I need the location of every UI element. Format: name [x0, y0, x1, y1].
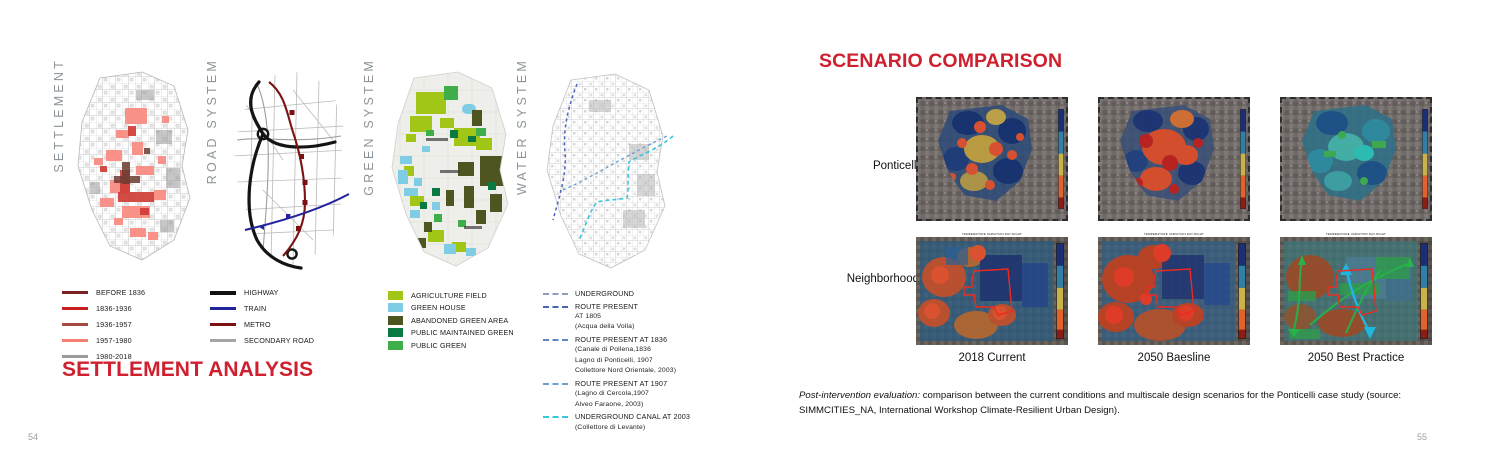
- legend-label: SECONDARY ROAD: [244, 336, 314, 345]
- left-page: SETTLEMENT: [0, 0, 753, 476]
- thumb-image: [1280, 97, 1432, 221]
- legend-settlement: BEFORE 1836 1836-1936 1936-1957 1957-198…: [62, 288, 145, 368]
- legend-label-sub: (Collettore di Levante): [575, 424, 645, 431]
- scenario-comparison-title: SCENARIO COMPARISON: [819, 50, 1062, 73]
- legend-item: ROUTE PRESENT AT 1836 (Canale di Pollena…: [543, 335, 690, 376]
- thumb-neighborhood-2050-best-practice[interactable]: TEMPERATURE VARIATION DAY-NIGHT: [1280, 230, 1432, 345]
- legend-label: ROUTE PRESENT AT 1907 (Lagno di Cercola,…: [575, 379, 667, 409]
- legend-road: HIGHWAY TRAIN METRO SECONDARY ROAD: [210, 288, 314, 352]
- page-number-left: 54: [28, 432, 38, 442]
- legend-swatch: [62, 323, 88, 326]
- thumb-overlay-title: TEMPERATURE VARIATION DAY-NIGHT: [1098, 232, 1250, 236]
- legend-item: UNDERGROUND: [543, 289, 690, 298]
- legend-item: 1836-1936: [62, 304, 145, 313]
- legend-item: AGRICULTURE FIELD: [388, 291, 514, 300]
- thumb-overlay-title: TEMPERATURE VARIATION DAY-NIGHT: [1280, 232, 1432, 236]
- legend-item: UNDERGROUND CANAL AT 2003 (Collettore di…: [543, 412, 690, 432]
- legend-swatch: [543, 306, 568, 308]
- legend-water: UNDERGROUND ROUTE PRESENT AT 1805(Acqua …: [543, 289, 690, 435]
- legend-item: HIGHWAY: [210, 288, 314, 297]
- legend-swatch: [62, 339, 88, 342]
- thumb-image: [916, 237, 1068, 345]
- legend-label-main: ROUTE PRESENT: [575, 302, 638, 311]
- legend-label: ABANDONED GREEN AREA: [411, 316, 508, 325]
- legend-swatch: [62, 307, 88, 310]
- legend-label-main: ROUTE PRESENT AT 1907: [575, 379, 667, 388]
- legend-swatch: [210, 323, 236, 326]
- legend-label: ROUTE PRESENT AT 1805(Acqua della Volla): [575, 302, 638, 332]
- legend-label: ROUTE PRESENT AT 1836 (Canale di Pollena…: [575, 335, 676, 376]
- road-system-map: [223, 70, 358, 270]
- legend-swatch: [388, 328, 403, 337]
- legend-swatch: [543, 383, 568, 385]
- legend-label: PUBLIC GREEN: [411, 341, 466, 350]
- scenario-label-2050-baseline: 2050 Baesline: [1098, 352, 1250, 364]
- legend-label: 1957-1980: [96, 336, 132, 345]
- row-label-ponticelli: Ponticelli: [801, 160, 919, 172]
- legend-swatch: [62, 291, 88, 294]
- green-system-map: [380, 70, 520, 270]
- thumb-overlay-title: TEMPERATURE VARIATION DAY-NIGHT: [916, 232, 1068, 236]
- settlement-analysis-title: SETTLEMENT ANALYSIS: [62, 358, 313, 382]
- page-number-right: 55: [1417, 432, 1427, 442]
- legend-label: 1936-1957: [96, 320, 132, 329]
- legend-label-sub: (Lagno di Cercola,1907Alveo Faraone, 200…: [575, 390, 649, 407]
- legend-label-sub: (Canale di Pollena,1836Lagno di Ponticel…: [575, 346, 676, 374]
- legend-swatch: [388, 303, 403, 312]
- legend-label: AGRICULTURE FIELD: [411, 291, 487, 300]
- legend-swatch: [543, 339, 568, 341]
- legend-item: TRAIN: [210, 304, 314, 313]
- legend-label: 1836-1936: [96, 304, 132, 313]
- legend-item: ABANDONED GREEN AREA: [388, 316, 514, 325]
- legend-label: METRO: [244, 320, 271, 329]
- legend-item: 1957-1980: [62, 336, 145, 345]
- thumb-neighborhood-2050-baseline[interactable]: TEMPERATURE VARIATION DAY-NIGHT: [1098, 230, 1250, 345]
- legend-item: SECONDARY ROAD: [210, 336, 314, 345]
- legend-label-main: UNDERGROUND CANAL AT 2003: [575, 412, 690, 421]
- legend-label: TRAIN: [244, 304, 266, 313]
- thumb-image: [1280, 237, 1432, 345]
- thumb-image: [1098, 97, 1250, 221]
- legend-label: PUBLIC MAINTAINED GREEN: [411, 328, 514, 337]
- legend-swatch: [543, 293, 568, 295]
- scenario-label-2050-best-practice: 2050 Best Practice: [1280, 352, 1432, 364]
- legend-item: PUBLIC GREEN: [388, 341, 514, 350]
- legend-item: 1936-1957: [62, 320, 145, 329]
- legend-swatch: [388, 341, 403, 350]
- legend-item: GREEN HOUSE: [388, 303, 514, 312]
- legend-label: UNDERGROUND CANAL AT 2003 (Collettore di…: [575, 412, 690, 432]
- thumb-image: [1098, 237, 1250, 345]
- legend-label-main: ROUTE PRESENT AT 1836: [575, 335, 667, 344]
- thumb-neighborhood-2018[interactable]: TEMPERATURE VARIATION DAY-NIGHT: [916, 230, 1068, 345]
- legend-swatch: [543, 416, 568, 418]
- settlement-map: [70, 70, 200, 265]
- panel-settlement-title: SETTLEMENT: [52, 58, 66, 173]
- legend-label-sub: AT 1805(Acqua della Volla): [575, 313, 635, 330]
- thumb-ponticelli-2050-best-practice[interactable]: [1280, 97, 1432, 221]
- legend-swatch: [210, 291, 236, 295]
- legend-swatch: [210, 307, 236, 310]
- legend-item: ROUTE PRESENT AT 1907 (Lagno di Cercola,…: [543, 379, 690, 409]
- figure-caption: Post-intervention evaluation: comparison…: [799, 388, 1459, 418]
- panel-road-system-title: ROAD SYSTEM: [205, 58, 219, 184]
- right-page: SCENARIO COMPARISON Ponticelli Neighborh…: [753, 0, 1507, 476]
- legend-item: ROUTE PRESENT AT 1805(Acqua della Volla): [543, 302, 690, 332]
- row-label-neighborhood: Neighborhood: [775, 273, 919, 285]
- legend-label: BEFORE 1836: [96, 288, 145, 297]
- legend-label: GREEN HOUSE: [411, 303, 466, 312]
- legend-swatch: [210, 339, 236, 342]
- legend-label: UNDERGROUND: [575, 289, 634, 298]
- water-system-map: [533, 70, 683, 270]
- scenario-label-2018-current: 2018 Current: [916, 352, 1068, 364]
- legend-item: METRO: [210, 320, 314, 329]
- legend-label: HIGHWAY: [244, 288, 279, 297]
- legend-swatch: [388, 291, 403, 300]
- panel-water-system-title: WATER SYSTEM: [515, 58, 529, 195]
- thumb-image: [916, 97, 1068, 221]
- panel-green-system-title: GREEN SYSTEM: [362, 58, 376, 196]
- legend-swatch: [388, 316, 403, 325]
- legend-item: PUBLIC MAINTAINED GREEN: [388, 328, 514, 337]
- thumb-ponticelli-2050-baseline[interactable]: [1098, 97, 1250, 221]
- legend-green: AGRICULTURE FIELD GREEN HOUSE ABANDONED …: [388, 291, 514, 353]
- thumb-ponticelli-2018[interactable]: [916, 97, 1068, 221]
- caption-emphasis: Post-intervention evaluation:: [799, 390, 920, 401]
- legend-item: BEFORE 1836: [62, 288, 145, 297]
